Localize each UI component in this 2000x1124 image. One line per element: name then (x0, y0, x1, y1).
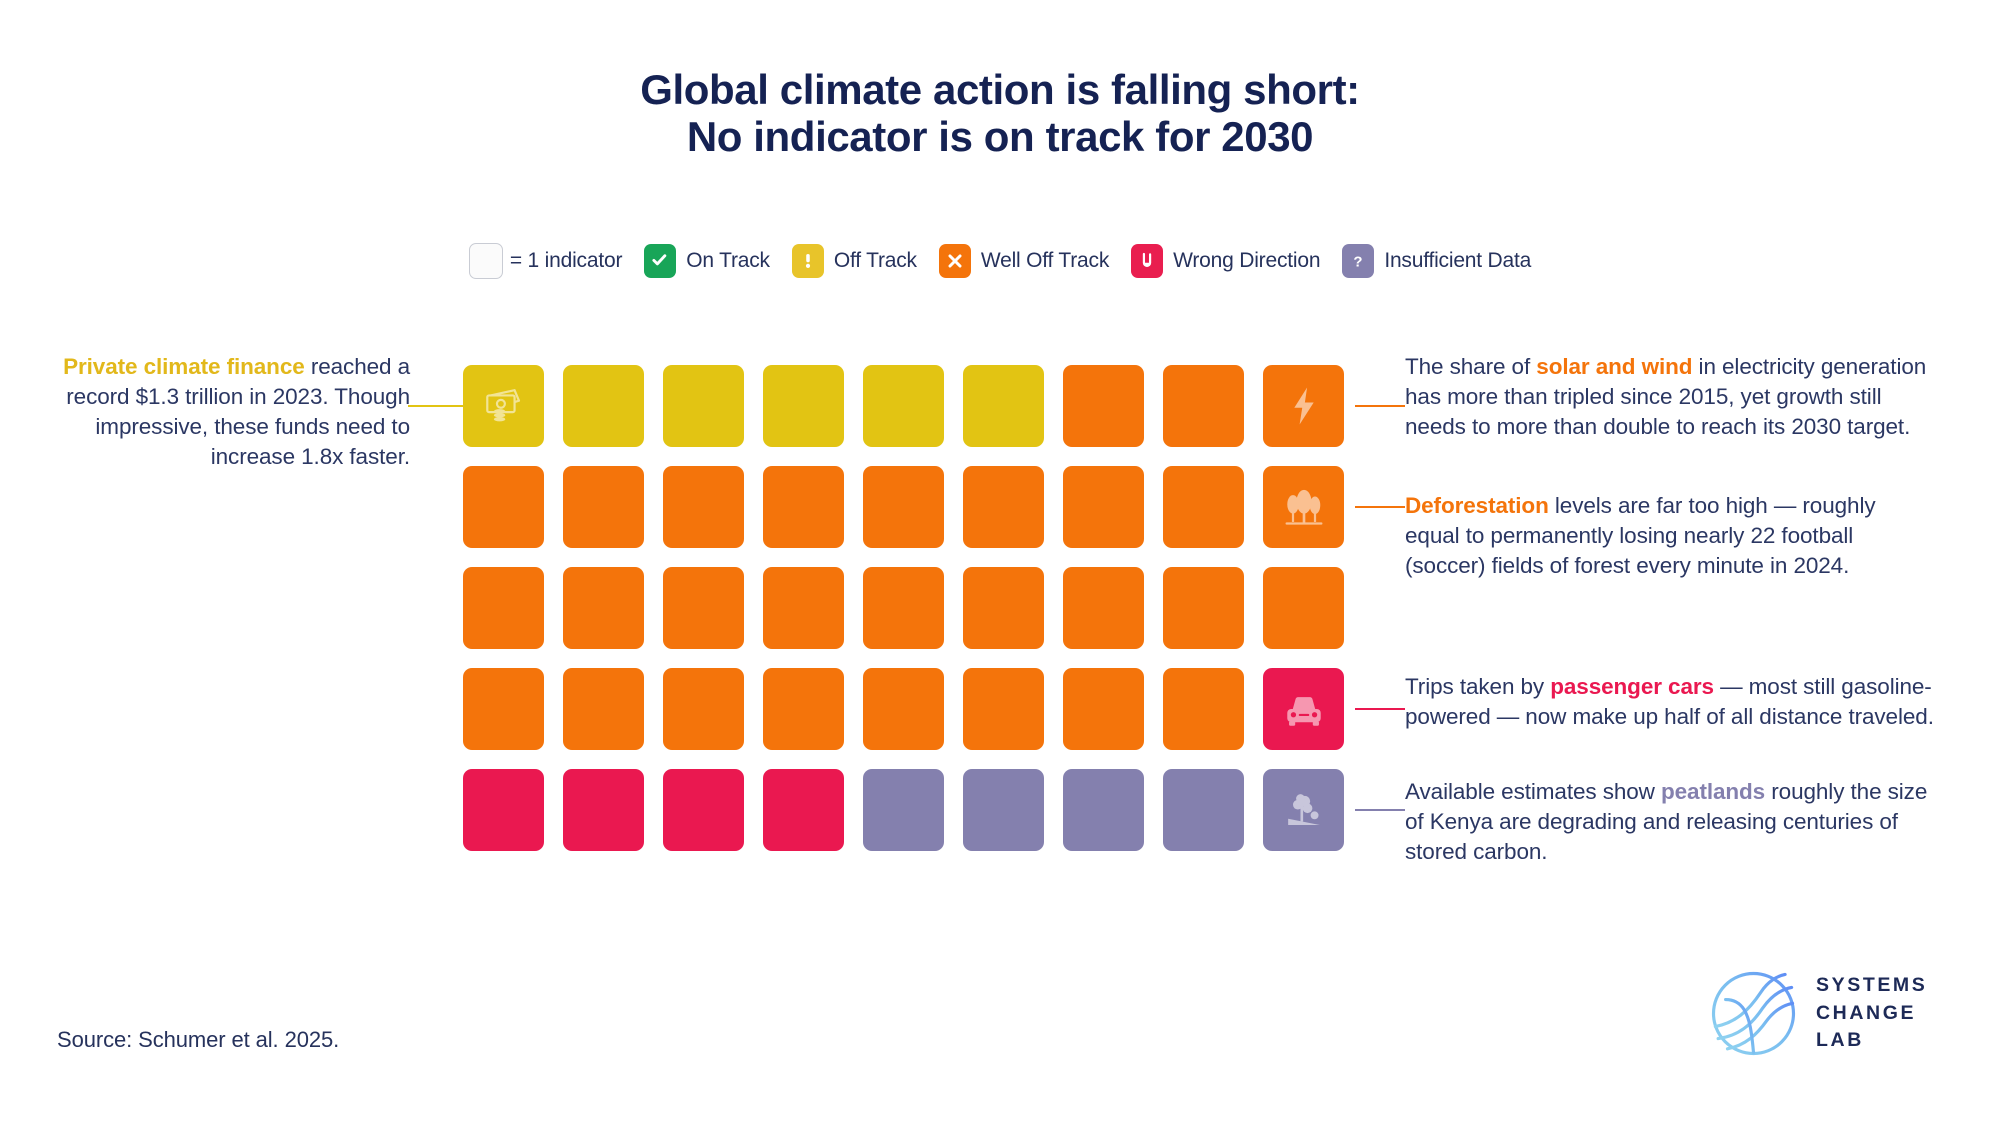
waffle-cell (963, 365, 1044, 447)
waffle-row (463, 365, 1344, 447)
legend: = 1 indicatorOn TrackOff TrackWell Off T… (0, 243, 2000, 279)
annotation-highlight: solar and wind (1536, 354, 1692, 379)
legend-label: Insufficient Data (1384, 249, 1531, 273)
annotation-highlight: Private climate finance (63, 354, 305, 379)
waffle-row (463, 668, 1344, 750)
legend-label: Off Track (834, 249, 917, 273)
waffle-cell-lightning-bolt (1263, 365, 1344, 447)
waffle-cell-peatland (1263, 769, 1344, 851)
x-icon (939, 244, 971, 278)
waffle-cell (463, 769, 544, 851)
annotation-deforestation: Deforestation levels are far too high — … (1405, 491, 1935, 581)
waffle-cell (963, 769, 1044, 851)
waffle-cell (1163, 365, 1244, 447)
empty-square-icon (469, 243, 503, 279)
waffle-cell (1063, 769, 1144, 851)
waffle-cell (863, 365, 944, 447)
source-note: Source: Schumer et al. 2025. (57, 1027, 339, 1053)
question-mark-icon: ? (1342, 244, 1374, 278)
annotation-highlight: passenger cars (1550, 674, 1714, 699)
annotation-prefix: The share of (1405, 354, 1536, 379)
waffle-cell (663, 668, 744, 750)
waffle-cell (563, 567, 644, 649)
waffle-cell (563, 769, 644, 851)
waffle-cell (963, 567, 1044, 649)
waffle-cell (463, 567, 544, 649)
waffle-cell (563, 668, 644, 750)
annotation-prefix: Available estimates show (1405, 779, 1661, 804)
title-line-2: No indicator is on track for 2030 (0, 113, 2000, 160)
waffle-cell (1063, 567, 1144, 649)
waffle-cell (863, 769, 944, 851)
waffle-row (463, 466, 1344, 548)
waffle-cell (1063, 668, 1144, 750)
connector-line-deforest (1355, 506, 1405, 508)
infographic-canvas: Global climate action is falling short: … (0, 0, 2000, 1124)
title-line-1: Global climate action is falling short: (0, 66, 2000, 113)
waffle-cell-trees (1263, 466, 1344, 548)
waffle-cell (1063, 466, 1144, 548)
annotation-solar-and-wind: The share of solar and wind in electrici… (1405, 352, 1935, 442)
logo-line-3: LAB (1816, 1027, 1927, 1055)
legend-item-1-indicator: = 1 indicator (469, 243, 622, 279)
waffle-cell (463, 668, 544, 750)
waffle-row (463, 567, 1344, 649)
waffle-row (463, 769, 1344, 851)
waffle-cell (1063, 365, 1144, 447)
annotation-private-climate-finance: Private climate finance reached a record… (55, 352, 410, 472)
waffle-cell (1263, 567, 1344, 649)
annotation-peatlands: Available estimates show peatlands rough… (1405, 777, 1935, 867)
annotation-passenger-cars: Trips taken by passenger cars — most sti… (1405, 672, 1935, 732)
waffle-cell-car (1263, 668, 1344, 750)
legend-item-on-track: On Track (644, 244, 770, 278)
legend-label: Well Off Track (981, 249, 1109, 273)
waffle-cell (663, 567, 744, 649)
legend-label: Wrong Direction (1173, 249, 1320, 273)
logo-wordmark: SYSTEMS CHANGE LAB (1816, 972, 1927, 1055)
connector-line-solar (1355, 405, 1405, 407)
waffle-cell (1163, 567, 1244, 649)
legend-item-wrong-direction: Wrong Direction (1131, 244, 1320, 278)
legend-item-well-off-track: Well Off Track (939, 244, 1109, 278)
waffle-cell (563, 466, 644, 548)
check-icon (644, 244, 676, 278)
annotation-highlight: peatlands (1661, 779, 1765, 804)
waffle-cell (663, 769, 744, 851)
waffle-cell (863, 668, 944, 750)
systems-change-lab-logo: SYSTEMS CHANGE LAB (1707, 967, 1927, 1060)
waffle-cell (763, 466, 844, 548)
waffle-cell (463, 466, 544, 548)
indicator-waffle-grid (463, 365, 1344, 851)
waffle-cell (763, 769, 844, 851)
legend-label: = 1 indicator (510, 249, 622, 273)
page-title: Global climate action is falling short: … (0, 66, 2000, 160)
waffle-cell (963, 466, 1044, 548)
waffle-cell (763, 365, 844, 447)
annotation-prefix: Trips taken by (1405, 674, 1550, 699)
exclamation-icon (792, 244, 824, 278)
logo-line-1: SYSTEMS (1816, 972, 1927, 1000)
logo-circle-icon (1707, 967, 1800, 1060)
legend-item-insufficient-data: ?Insufficient Data (1342, 244, 1531, 278)
waffle-cell (663, 365, 744, 447)
waffle-cell (1163, 769, 1244, 851)
waffle-cell (763, 668, 844, 750)
legend-item-off-track: Off Track (792, 244, 917, 278)
waffle-cell (563, 365, 644, 447)
legend-label: On Track (686, 249, 770, 273)
svg-text:?: ? (1354, 253, 1363, 270)
waffle-cell (663, 466, 744, 548)
waffle-cell (1163, 668, 1244, 750)
waffle-cell (863, 466, 944, 548)
waffle-cell (1163, 466, 1244, 548)
waffle-cell-money (463, 365, 544, 447)
connector-line-finance (408, 405, 463, 407)
waffle-cell (863, 567, 944, 649)
waffle-cell (763, 567, 844, 649)
connector-line-cars (1355, 708, 1405, 710)
logo-line-2: CHANGE (1816, 1000, 1927, 1028)
connector-line-peatland (1355, 809, 1405, 811)
annotation-highlight: Deforestation (1405, 493, 1549, 518)
down-arrow-icon (1131, 244, 1163, 278)
waffle-cell (963, 668, 1044, 750)
